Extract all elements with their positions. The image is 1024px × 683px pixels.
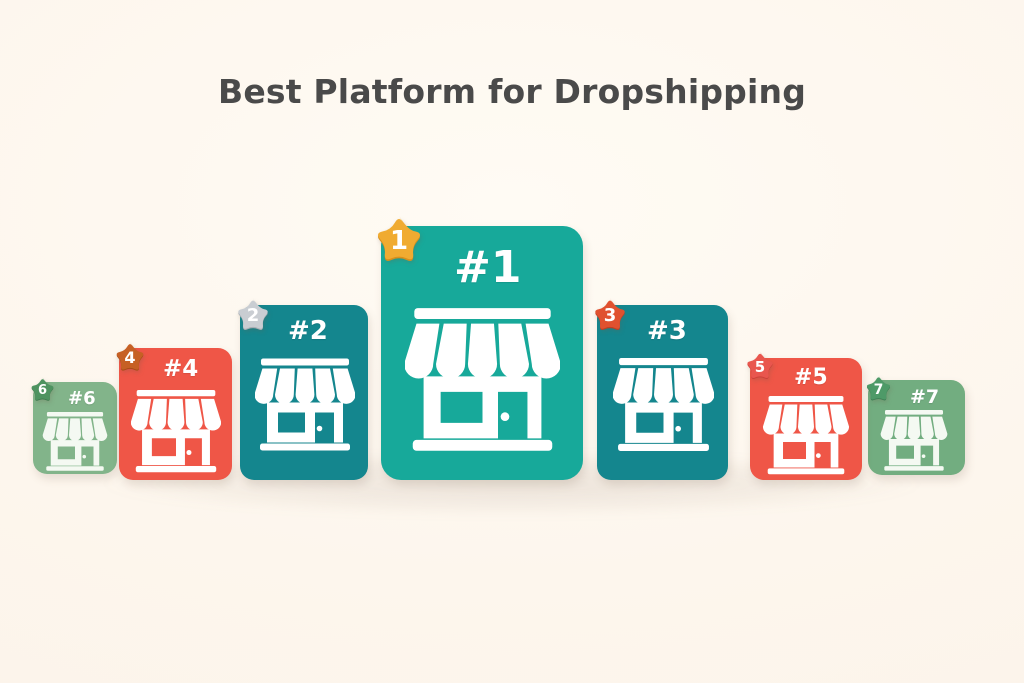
storefront-glyph-4 — [131, 390, 221, 474]
star-icon-1 — [369, 211, 429, 271]
star-icon-3 — [589, 295, 631, 337]
storefront-glyph-6 — [42, 412, 108, 472]
rank-badge-4[interactable]: 4 — [111, 339, 149, 377]
rank-label-6: #6 — [68, 390, 96, 408]
storefront-icon-4 — [131, 390, 221, 474]
storefront-icon-6 — [42, 412, 108, 472]
star-icon-4 — [111, 339, 149, 377]
rank-label-4: #4 — [163, 358, 198, 381]
storefront-icon-3 — [613, 358, 714, 453]
storefront-glyph-2 — [255, 358, 355, 453]
storefront-glyph-5 — [762, 396, 850, 476]
rank-badge-6[interactable]: 6 — [27, 375, 58, 406]
rank-label-2: #2 — [288, 318, 328, 344]
star-icon-2 — [232, 295, 274, 337]
storefront-icon-2 — [255, 358, 355, 453]
storefront-glyph-7 — [878, 410, 950, 472]
rank-badge-7[interactable]: 7 — [862, 373, 895, 406]
ranking-card-4[interactable]: #44 — [119, 348, 232, 480]
ranking-card-2[interactable]: #22 — [240, 305, 368, 480]
rank-label-1: #1 — [454, 246, 521, 290]
infographic-canvas: Best Platform for Dropshipping #11#22#33… — [0, 0, 1024, 683]
storefront-icon-5 — [762, 396, 850, 476]
storefront-icon-1 — [405, 308, 560, 454]
rank-badge-1[interactable]: 1 — [369, 211, 429, 271]
star-icon-5 — [742, 349, 778, 385]
rank-label-3: #3 — [647, 318, 687, 344]
star-icon-7 — [862, 373, 895, 406]
ranking-card-7[interactable]: #77 — [868, 380, 965, 475]
ranking-card-5[interactable]: #55 — [750, 358, 862, 480]
ranking-card-1[interactable]: #11 — [381, 226, 583, 480]
storefront-glyph-3 — [613, 358, 714, 453]
rank-badge-5[interactable]: 5 — [742, 349, 778, 385]
storefront-glyph-1 — [405, 308, 560, 454]
ranking-card-6[interactable]: #66 — [33, 382, 117, 474]
ranking-card-3[interactable]: #33 — [597, 305, 728, 480]
rank-label-7: #7 — [910, 388, 939, 407]
storefront-icon-7 — [878, 410, 950, 472]
ranking-podium: #11#22#33#44#55#66#77 — [0, 0, 1024, 683]
star-icon-6 — [27, 375, 58, 406]
rank-badge-2[interactable]: 2 — [232, 295, 274, 337]
rank-label-5: #5 — [794, 367, 828, 389]
rank-badge-3[interactable]: 3 — [589, 295, 631, 337]
